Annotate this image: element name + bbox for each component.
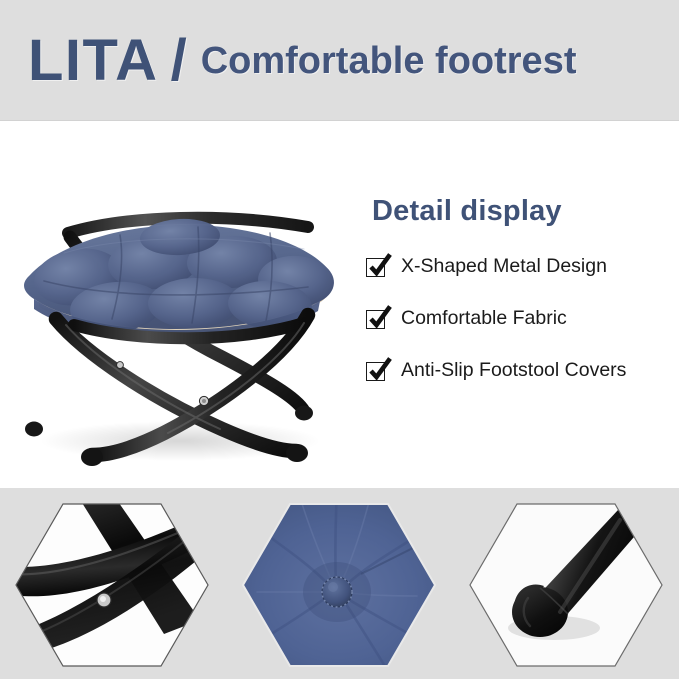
checkbox-checked-icon: [366, 256, 388, 278]
hex-detail-foot-cover: [468, 500, 664, 670]
feature-item: Comfortable Fabric: [366, 306, 676, 332]
feature-item: Anti-Slip Footstool Covers: [366, 358, 676, 384]
feature-list: X-Shaped Metal Design Comfortable Fabric: [366, 254, 676, 384]
feature-label: Comfortable Fabric: [401, 309, 567, 329]
detail-display-panel: Detail display X-Shaped Metal Design: [366, 195, 676, 410]
header-tagline: Comfortable footrest: [201, 42, 577, 80]
feature-label: X-Shaped Metal Design: [401, 257, 607, 277]
hexagon-row: [0, 488, 679, 679]
product-infographic-page: LITA / Comfortable footrest: [0, 0, 679, 679]
hex-detail-fabric-button: [241, 500, 437, 670]
feature-label: Anti-Slip Footstool Covers: [401, 361, 626, 381]
hex-detail-x-frame-joint: [14, 500, 210, 670]
bottom-detail-band: [0, 488, 679, 679]
product-photo-footstool: [8, 129, 358, 479]
detail-display-title: Detail display: [372, 195, 676, 228]
brand-logo-text: LITA: [28, 32, 159, 90]
feature-item: X-Shaped Metal Design: [366, 254, 676, 280]
header-inner: LITA / Comfortable footrest: [28, 18, 669, 104]
checkbox-checked-icon: [366, 308, 388, 330]
brand-separator: /: [171, 32, 187, 90]
checkbox-checked-icon: [366, 360, 388, 382]
footstool-illustration: [8, 129, 358, 479]
header-band: LITA / Comfortable footrest: [0, 0, 679, 121]
main-content-area: Detail display X-Shaped Metal Design: [0, 121, 679, 488]
